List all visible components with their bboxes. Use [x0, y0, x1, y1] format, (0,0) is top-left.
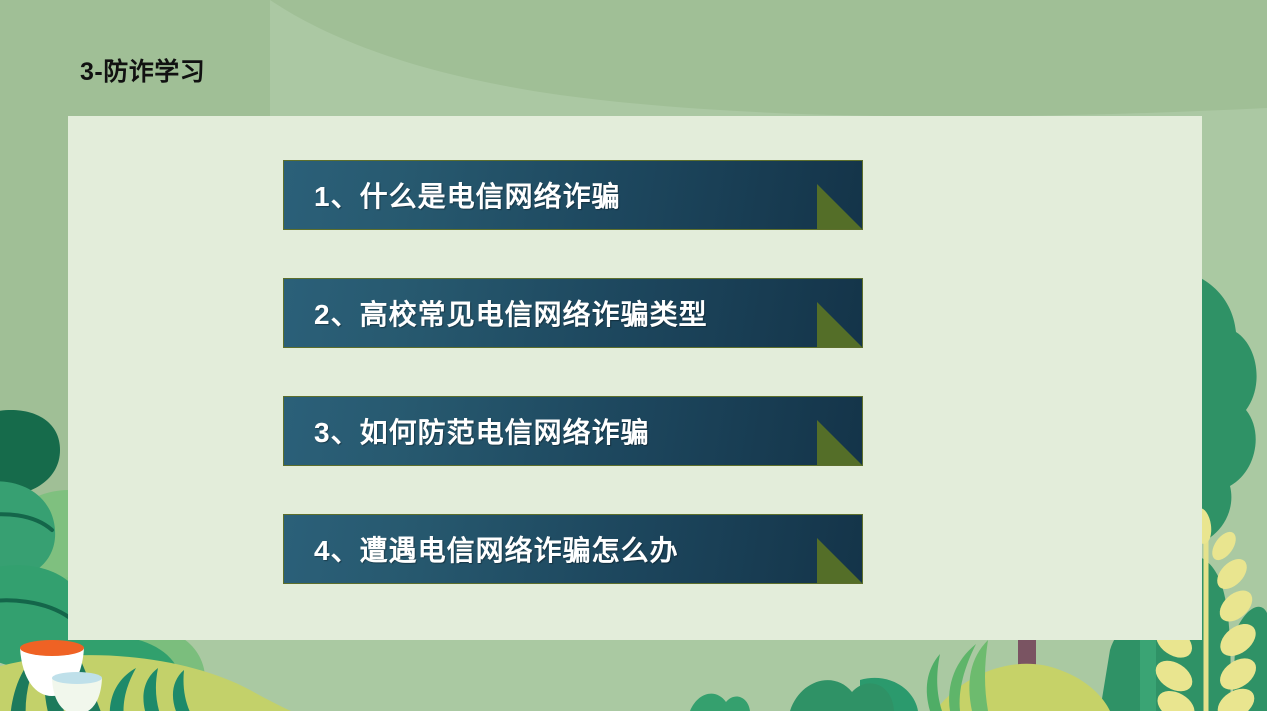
corner-triangle-icon	[817, 538, 862, 583]
menu-list: 1、什么是电信网络诈骗 2、高校常见电信网络诈骗类型 3、如何防范电信网络诈骗 …	[283, 160, 863, 584]
menu-item-1[interactable]: 1、什么是电信网络诈骗	[283, 160, 863, 230]
menu-item-1-label: 1、什么是电信网络诈骗	[284, 175, 621, 215]
slide-canvas: 3-防诈学习 1、什么是电信网络诈骗 2、高校常见电信网络诈骗类型 3、如何防范…	[0, 0, 1267, 711]
menu-item-4[interactable]: 4、遭遇电信网络诈骗怎么办	[283, 514, 863, 584]
menu-item-3-label: 3、如何防范电信网络诈骗	[284, 411, 650, 451]
corner-triangle-icon	[817, 420, 862, 465]
menu-item-4-label: 4、遭遇电信网络诈骗怎么办	[284, 529, 679, 569]
menu-item-2-label: 2、高校常见电信网络诈骗类型	[284, 293, 708, 333]
corner-triangle-icon	[817, 184, 862, 229]
menu-item-3[interactable]: 3、如何防范电信网络诈骗	[283, 396, 863, 466]
corner-triangle-icon	[817, 302, 862, 347]
menu-item-2[interactable]: 2、高校常见电信网络诈骗类型	[283, 278, 863, 348]
page-title: 3-防诈学习	[80, 52, 205, 88]
